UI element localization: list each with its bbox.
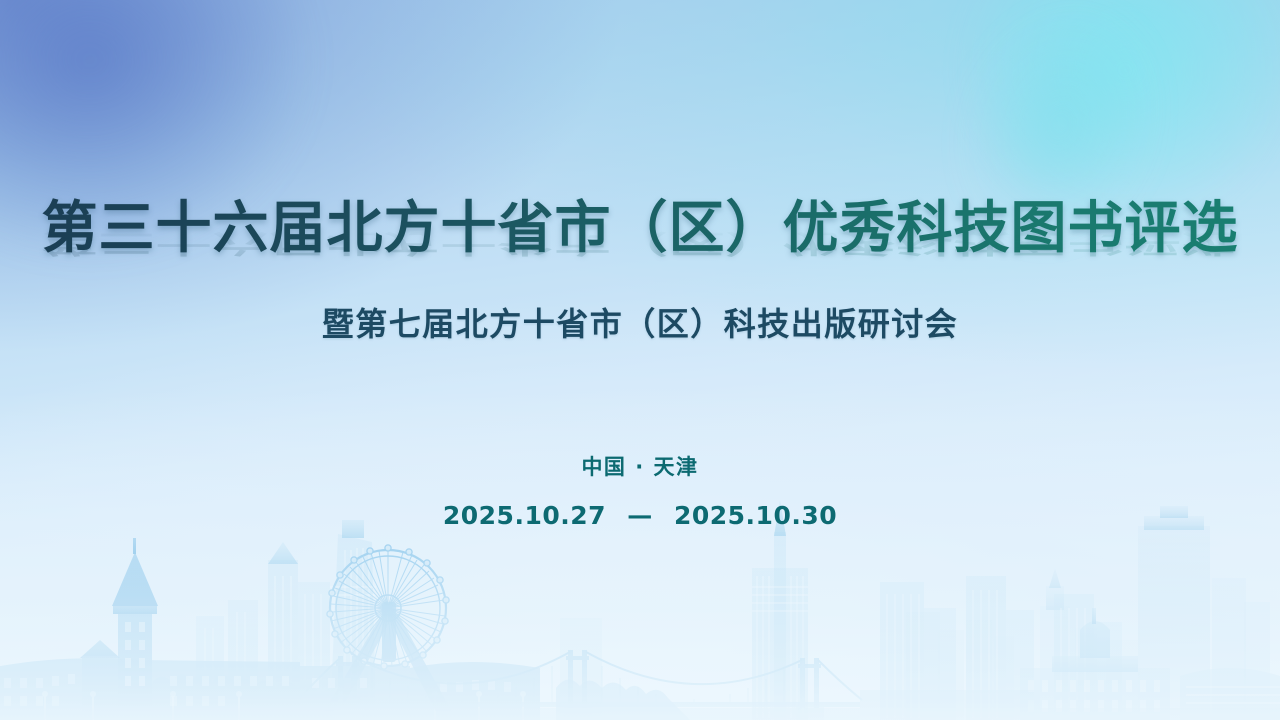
main-title-reflection: 第三十六届北方十省市（区）优秀科技图书评选 bbox=[0, 228, 1280, 258]
event-date-start: 2025.10.27 bbox=[443, 501, 606, 530]
date-range-separator: — bbox=[615, 501, 665, 530]
event-sub-title: 暨第七届北方十省市（区）科技出版研讨会 bbox=[0, 303, 1280, 345]
event-date-end: 2025.10.30 bbox=[674, 501, 837, 530]
poster-canvas: 第三十六届北方十省市（区）优秀科技图书评选 第三十六届北方十省市（区）优秀科技图… bbox=[0, 0, 1280, 720]
event-location: 中国 · 天津 bbox=[0, 453, 1280, 481]
event-date-range: 2025.10.27 — 2025.10.30 bbox=[0, 500, 1280, 532]
main-title-block: 第三十六届北方十省市（区）优秀科技图书评选 第三十六届北方十省市（区）优秀科技图… bbox=[0, 196, 1280, 262]
poster-text-content: 第三十六届北方十省市（区）优秀科技图书评选 第三十六届北方十省市（区）优秀科技图… bbox=[0, 0, 1280, 720]
